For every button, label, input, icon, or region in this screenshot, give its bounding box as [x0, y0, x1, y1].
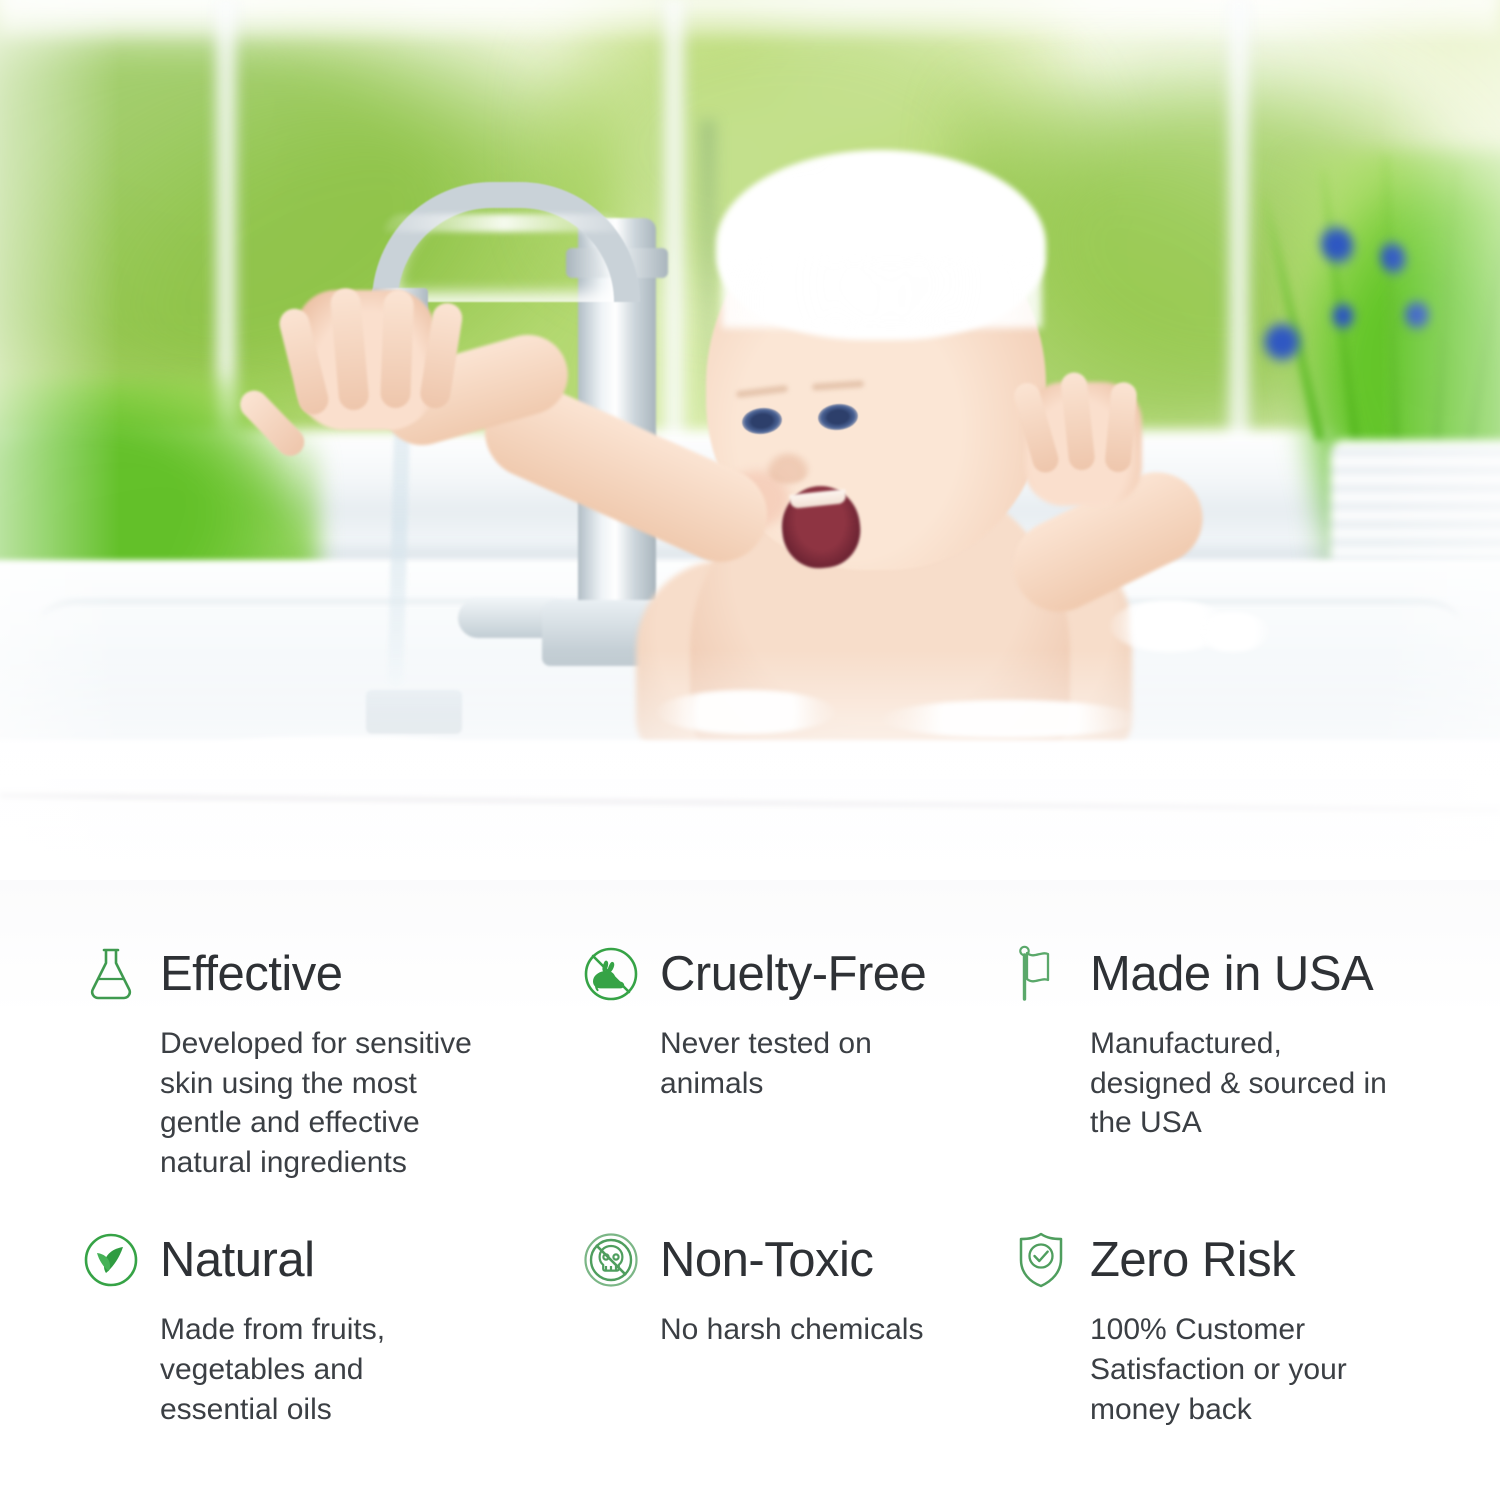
feature-header: Made in USA	[1010, 938, 1402, 1010]
no-skull-icon	[580, 1229, 642, 1291]
feature-header: Effective	[80, 938, 482, 1010]
flask-icon	[80, 943, 142, 1005]
feature-effective: Effective Developed for sensitive skin u…	[0, 938, 500, 1182]
flag-icon	[1010, 943, 1072, 1005]
feature-description: Never tested on animals	[660, 1024, 932, 1103]
feature-title: Effective	[160, 950, 343, 999]
blue-flower	[1332, 300, 1354, 332]
feature-description: Developed for sensitive skin using the m…	[160, 1024, 482, 1182]
product-feature-page: Effective Developed for sensitive skin u…	[0, 0, 1500, 1500]
no-rabbit-icon	[580, 943, 642, 1005]
blue-flower	[1262, 320, 1302, 364]
feature-title: Cruelty-Free	[660, 950, 926, 999]
baby-nose	[766, 452, 810, 484]
feature-zero-risk: Zero Risk 100% Customer Satisfaction or …	[950, 1224, 1420, 1429]
soap-foam-blob	[1196, 612, 1270, 652]
feature-title: Natural	[160, 1236, 314, 1285]
hero-fade-bottom	[0, 650, 1500, 880]
feature-title: Zero Risk	[1090, 1236, 1295, 1285]
feature-header: Cruelty-Free	[580, 938, 932, 1010]
feature-grid: Effective Developed for sensitive skin u…	[0, 880, 1500, 1500]
feature-natural: Natural Made from fruits, vegetables and…	[0, 1224, 500, 1429]
feature-header: Natural	[80, 1224, 482, 1296]
feature-description: Manufactured, designed & sourced in the …	[1090, 1024, 1402, 1143]
feature-header: Zero Risk	[1010, 1224, 1402, 1296]
feature-header: Non-Toxic	[580, 1224, 932, 1296]
feature-non-toxic: Non-Toxic No harsh chemicals	[500, 1224, 950, 1429]
hero-photo	[0, 0, 1500, 880]
baby-finger	[380, 290, 414, 409]
feature-made-in-usa: Made in USA Manufactured, designed & sou…	[950, 938, 1420, 1182]
feature-row: Effective Developed for sensitive skin u…	[0, 938, 1500, 1182]
feature-row: Natural Made from fruits, vegetables and…	[0, 1224, 1500, 1429]
feature-description: 100% Customer Satisfaction or your money…	[1090, 1310, 1402, 1429]
feature-description: No harsh chemicals	[660, 1310, 932, 1350]
shield-check-icon	[1010, 1229, 1072, 1291]
feature-description: Made from fruits, vegetables and essenti…	[160, 1310, 482, 1429]
feature-title: Made in USA	[1090, 950, 1373, 999]
feature-title: Non-Toxic	[660, 1236, 873, 1285]
soap-foam-fringe	[722, 258, 1042, 328]
window-mullion	[1225, 0, 1253, 470]
leaf-circle-icon	[80, 1229, 142, 1291]
feature-cruelty-free: Cruelty-Free Never tested on animals	[500, 938, 950, 1182]
